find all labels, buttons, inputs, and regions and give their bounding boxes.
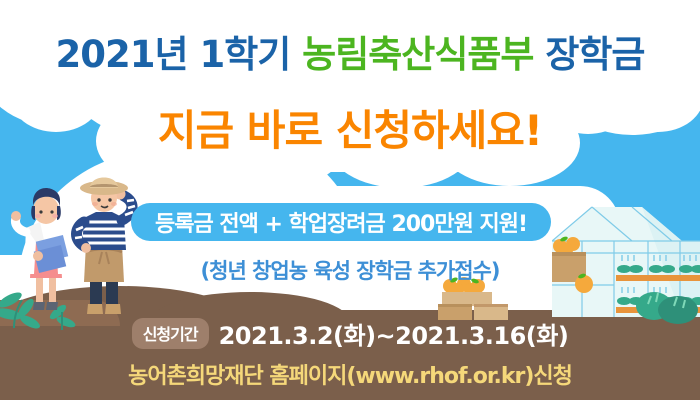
cloud-band bbox=[0, 0, 700, 185]
application-period-badge: 신청기간 bbox=[132, 318, 209, 349]
headline-cta-text: 지금 바로 신청하세요! bbox=[158, 106, 542, 155]
headline-line-1: 2021년 1학기 농림축산식품부 장학금 bbox=[0, 32, 700, 78]
headline-part-scholarship: 장학금 bbox=[545, 33, 644, 76]
headline-line-2: 지금 바로 신청하세요! bbox=[0, 105, 700, 157]
farmer-man-illustration bbox=[62, 170, 146, 324]
benefit-subline: (청년 창업농 육성 장학금 추가접수) bbox=[0, 255, 700, 285]
headline-part-ministry: 농림축산식품부 bbox=[302, 33, 545, 76]
benefit-pill-text: 등록금 전액 + 학업장려금 200만원 지원! bbox=[155, 206, 527, 238]
benefit-pill-badge: 등록금 전액 + 학업장려금 200만원 지원! bbox=[131, 203, 551, 241]
scholarship-banner: 2021년 1학기 농림축산식품부 장학금 지금 바로 신청하세요! bbox=[0, 0, 700, 400]
footer-website-line: 농어촌희망재단 홈페이지(www.rhof.or.kr)신청 bbox=[0, 358, 700, 390]
application-period-row: 신청기간 2021.3.2(화)~2021.3.16(화) bbox=[0, 316, 700, 351]
application-period-dates: 2021.3.2(화)~2021.3.16(화) bbox=[219, 316, 569, 351]
headline-part-year: 2021년 1학기 bbox=[56, 33, 303, 76]
